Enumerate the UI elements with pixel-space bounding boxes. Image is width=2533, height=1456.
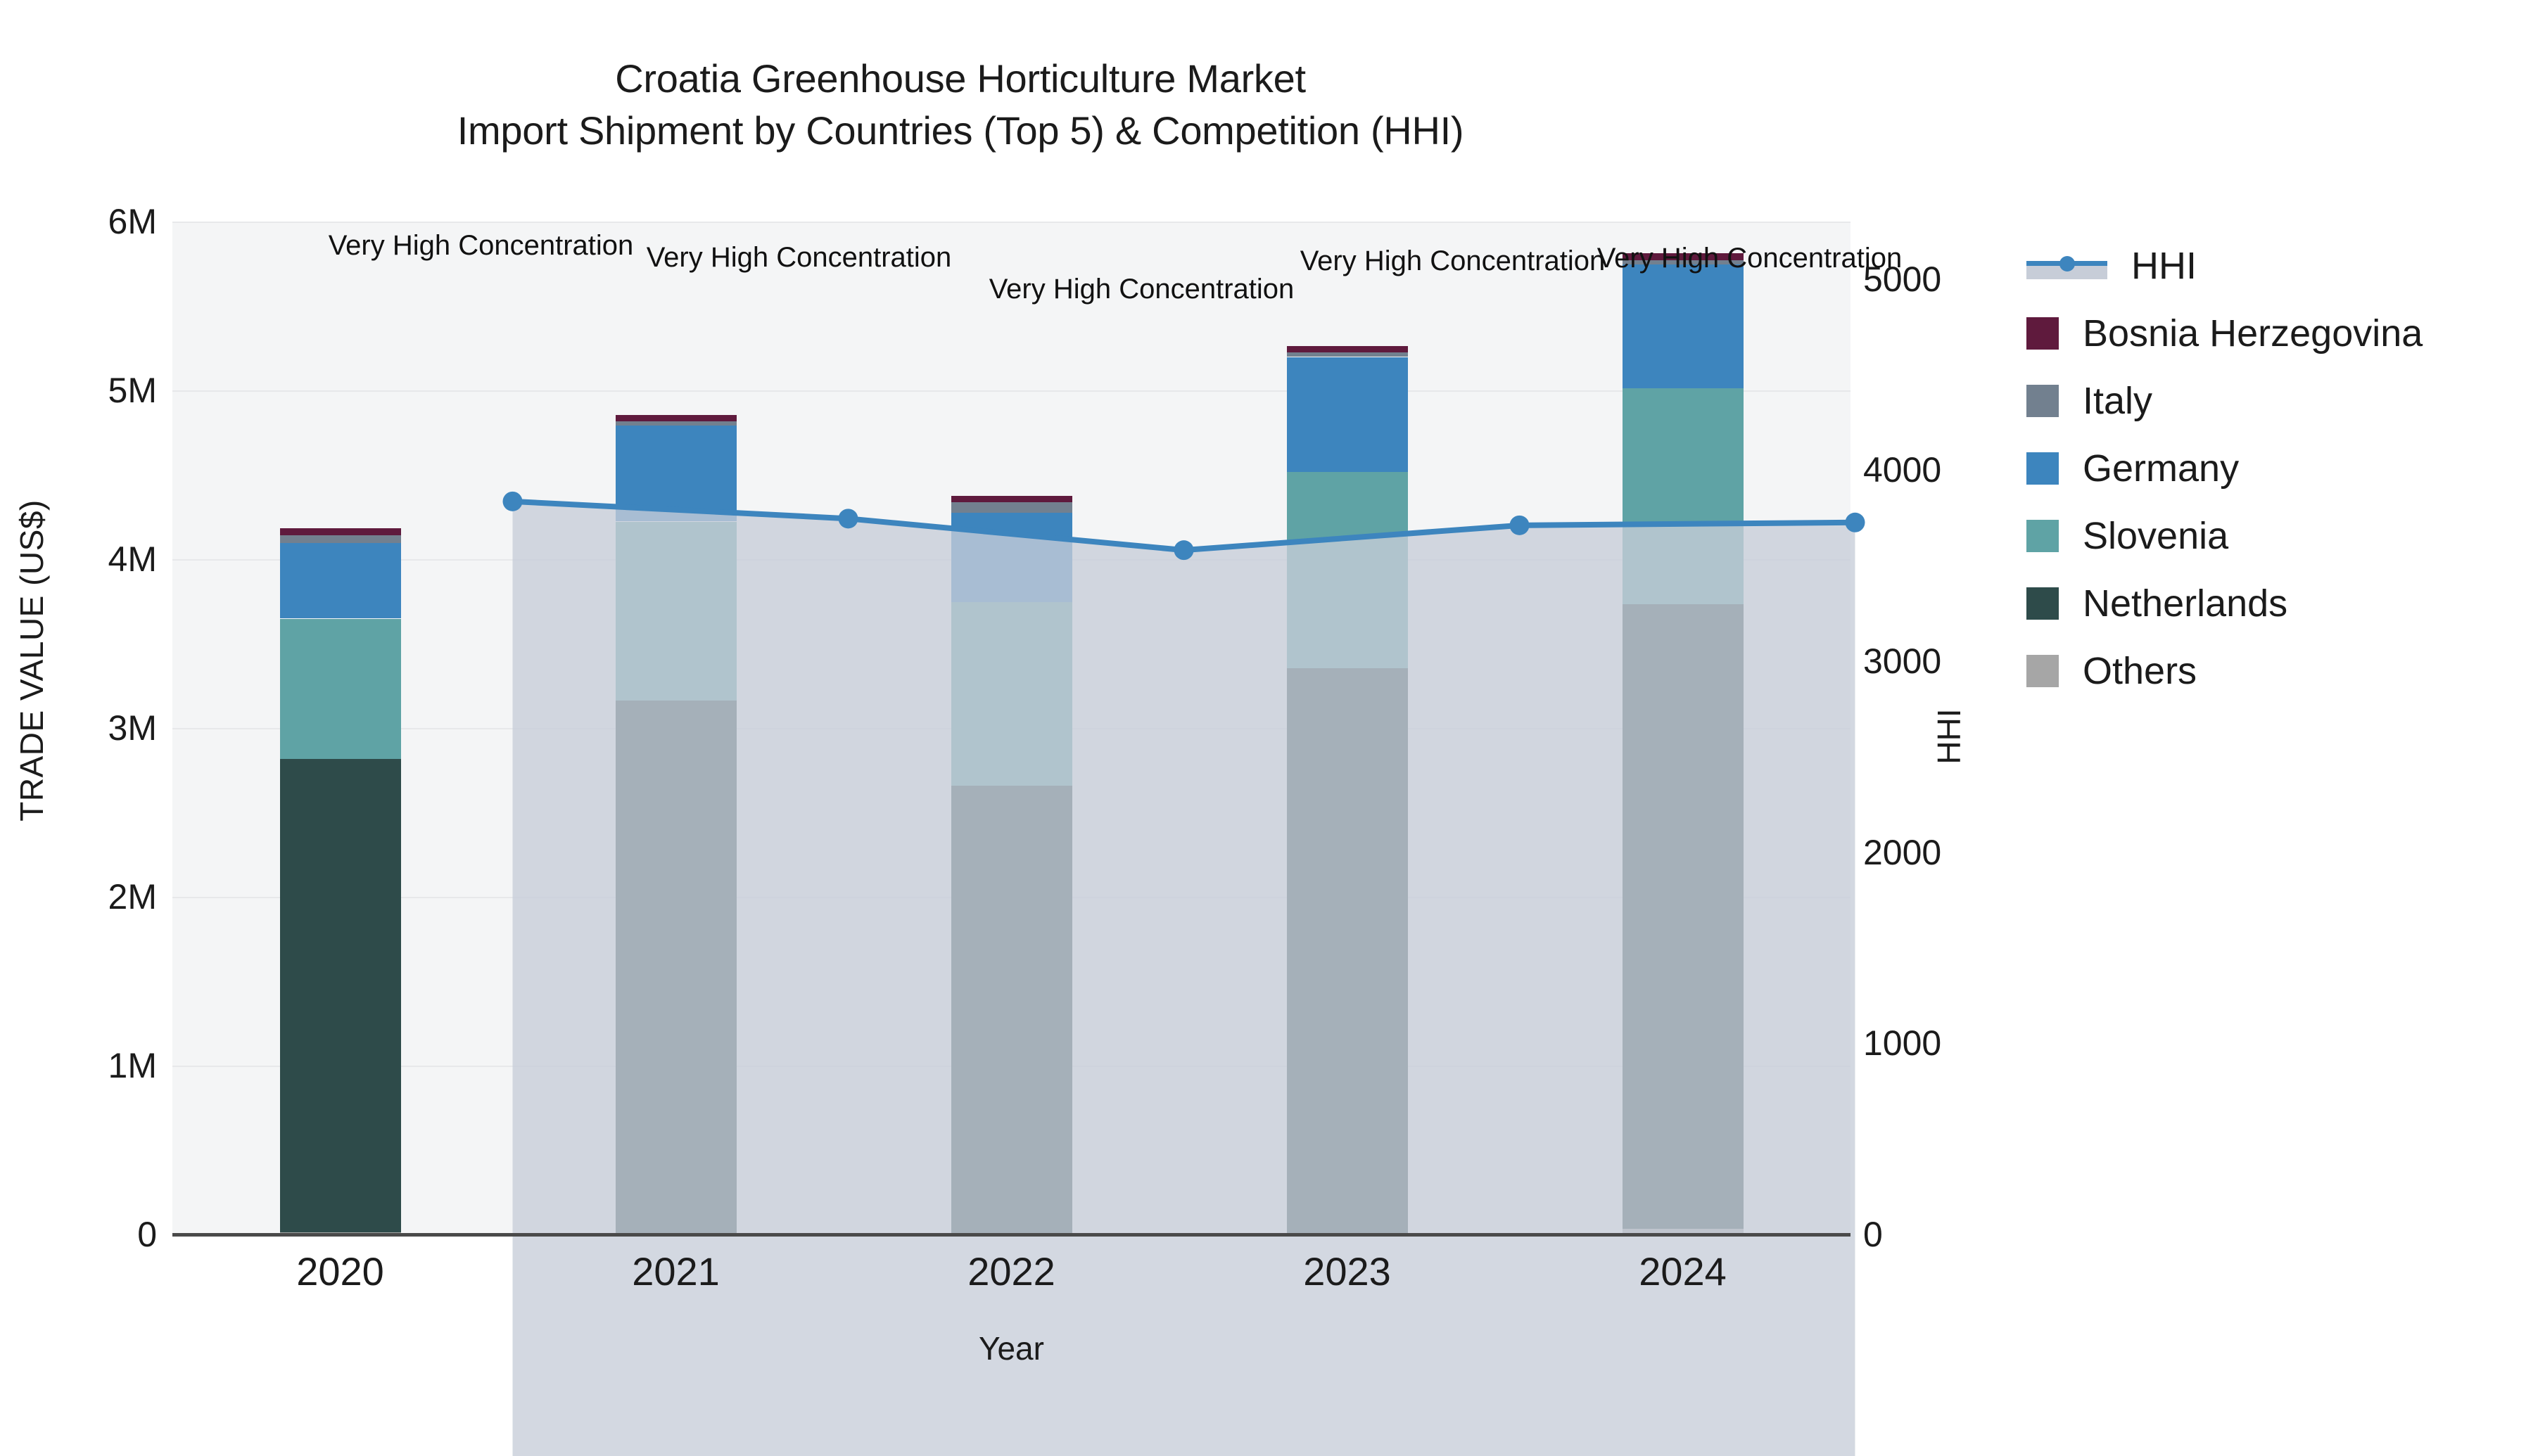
hhi-area-fill <box>513 502 1855 1456</box>
x-axis-tick-label: 2023 <box>1303 1249 1391 1294</box>
legend-item[interactable]: Germany <box>2026 435 2519 502</box>
bar-segment-italy[interactable] <box>1287 352 1408 357</box>
y-axis-left-tick-label: 1M <box>108 1045 157 1086</box>
x-axis-tick-label: 2021 <box>632 1249 720 1294</box>
legend-item-label: Germany <box>2083 447 2239 490</box>
legend-swatch-icon <box>2026 520 2059 552</box>
y-axis-left-tick-label: 2M <box>108 876 157 917</box>
annotation-label: Very High Concentration <box>1300 245 1606 277</box>
legend-item-label: Slovenia <box>2083 514 2228 558</box>
y-axis-left-tick-label: 6M <box>108 201 157 242</box>
legend-swatch-icon <box>2026 655 2059 687</box>
x-axis-tick-label: 2022 <box>967 1249 1055 1294</box>
annotation-label: Very High Concentration <box>989 274 1295 305</box>
chart-title-main: Croatia Greenhouse Horticulture Market <box>0 53 1921 105</box>
chart-canvas: Croatia Greenhouse Horticulture Market I… <box>0 0 2533 1424</box>
hhi-data-point[interactable] <box>1174 540 1194 560</box>
legend-item-label: Others <box>2083 649 2197 693</box>
legend-item[interactable]: Netherlands <box>2026 570 2519 637</box>
legend-swatch-icon <box>2026 317 2059 350</box>
y-axis-left-title: TRADE VALUE (US$) <box>13 344 51 977</box>
x-axis-tick-label: 2020 <box>296 1249 384 1294</box>
annotation-label: Very High Concentration <box>647 242 952 274</box>
legend-swatch-icon <box>2026 385 2059 417</box>
bar-segment-italy[interactable] <box>616 421 737 426</box>
x-axis-line <box>172 1233 1850 1237</box>
chart-title: Croatia Greenhouse Horticulture Market I… <box>0 53 1921 157</box>
bar-segment-bosnia-herzegovina[interactable] <box>1287 346 1408 352</box>
legend-item[interactable]: HHI <box>2026 232 2519 300</box>
bar-segment-bosnia-herzegovina[interactable] <box>616 415 737 421</box>
chart-title-sub: Import Shipment by Countries (Top 5) & C… <box>0 105 1921 157</box>
y-axis-left-tick-label: 3M <box>108 708 157 748</box>
legend-item[interactable]: Italy <box>2026 367 2519 435</box>
legend-item[interactable]: Others <box>2026 637 2519 705</box>
hhi-data-point[interactable] <box>839 509 858 528</box>
legend-item-label: Bosnia Herzegovina <box>2083 312 2423 355</box>
legend-line-marker-icon <box>2026 250 2107 282</box>
legend-item-label: Netherlands <box>2083 582 2287 625</box>
y-axis-left-tick-label: 0 <box>137 1214 157 1255</box>
legend-item[interactable]: Slovenia <box>2026 502 2519 570</box>
plot-area <box>172 222 1850 1234</box>
hhi-line-series <box>345 443 2023 1456</box>
hhi-data-point[interactable] <box>503 492 523 511</box>
annotation-label: Very High Concentration <box>329 230 634 262</box>
legend-swatch-icon <box>2026 452 2059 485</box>
hhi-data-point[interactable] <box>1510 516 1530 535</box>
legend-swatch-icon <box>2026 587 2059 620</box>
legend-item-label: Italy <box>2083 379 2152 423</box>
y-axis-left-tick-label: 5M <box>108 370 157 411</box>
legend-item-label: HHI <box>2131 244 2197 288</box>
bar-segment-germany[interactable] <box>1623 264 1744 388</box>
x-axis-title: Year <box>172 1329 1850 1367</box>
annotation-label: Very High Concentration <box>1597 243 1903 274</box>
legend-item[interactable]: Bosnia Herzegovina <box>2026 300 2519 367</box>
y-axis-left-tick-label: 4M <box>108 539 157 580</box>
legend: HHIBosnia HerzegovinaItalyGermanySloveni… <box>2026 232 2519 705</box>
hhi-data-point[interactable] <box>1846 513 1865 532</box>
x-axis-tick-label: 2024 <box>1639 1249 1727 1294</box>
